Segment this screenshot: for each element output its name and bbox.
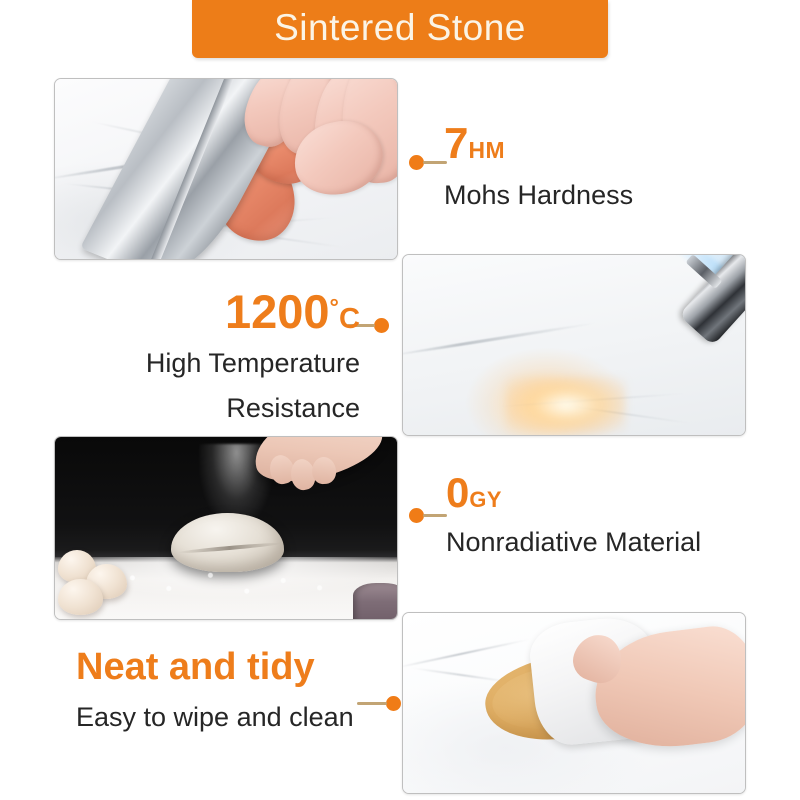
mixing-bowl bbox=[353, 583, 397, 619]
connector-line-clean bbox=[357, 702, 387, 705]
egg bbox=[58, 579, 102, 615]
hardness-unit: HM bbox=[468, 137, 505, 163]
clean-description: Easy to wipe and clean bbox=[76, 702, 354, 734]
hardness-value: 7 bbox=[444, 119, 468, 168]
temperature-headline: 1200°C bbox=[108, 288, 360, 335]
photo-dough-flour-content bbox=[55, 437, 397, 619]
hardness-headline: 7HM bbox=[444, 122, 633, 166]
page-title: Sintered Stone bbox=[274, 9, 526, 49]
callout-temperature: 1200°C High Temperature Resistance bbox=[108, 288, 360, 425]
temperature-value: 1200 bbox=[225, 285, 330, 338]
photo-knife-cutting-salmon-content bbox=[55, 79, 397, 259]
photo-wiping-spill-content bbox=[403, 613, 745, 793]
photo-dough-flour bbox=[54, 436, 398, 620]
connector-dot-hardness bbox=[409, 155, 424, 170]
photo-torch-flame-content bbox=[403, 255, 745, 435]
flour-dust bbox=[96, 568, 356, 601]
photo-torch-flame bbox=[402, 254, 746, 436]
radiation-headline: 0GY bbox=[446, 472, 701, 514]
connector-dot-temperature bbox=[374, 318, 389, 333]
temperature-description-line2: Resistance bbox=[108, 393, 360, 425]
flame-hot-spot bbox=[506, 377, 626, 433]
product-infographic: Sintered Stone bbox=[0, 0, 800, 800]
connector-dot-radiation bbox=[409, 508, 424, 523]
clean-headline: Neat and tidy bbox=[76, 648, 354, 686]
radiation-unit: GY bbox=[469, 487, 502, 512]
radiation-description: Nonradiative Material bbox=[446, 527, 701, 559]
callout-hardness: 7HM Mohs Hardness bbox=[444, 122, 633, 212]
radiation-value: 0 bbox=[446, 469, 469, 516]
connector-line-radiation bbox=[423, 514, 447, 517]
connector-dot-clean bbox=[386, 696, 401, 711]
hardness-description: Mohs Hardness bbox=[444, 180, 633, 212]
page-title-banner: Sintered Stone bbox=[192, 0, 608, 58]
temperature-description-line1: High Temperature bbox=[108, 348, 360, 380]
callout-radiation: 0GY Nonradiative Material bbox=[446, 472, 701, 559]
callout-clean: Neat and tidy Easy to wipe and clean bbox=[76, 648, 354, 734]
temperature-unit-letter: C bbox=[339, 303, 360, 335]
photo-wiping-spill bbox=[402, 612, 746, 794]
degree-symbol: ° bbox=[330, 294, 339, 320]
photo-knife-cutting-salmon bbox=[54, 78, 398, 260]
